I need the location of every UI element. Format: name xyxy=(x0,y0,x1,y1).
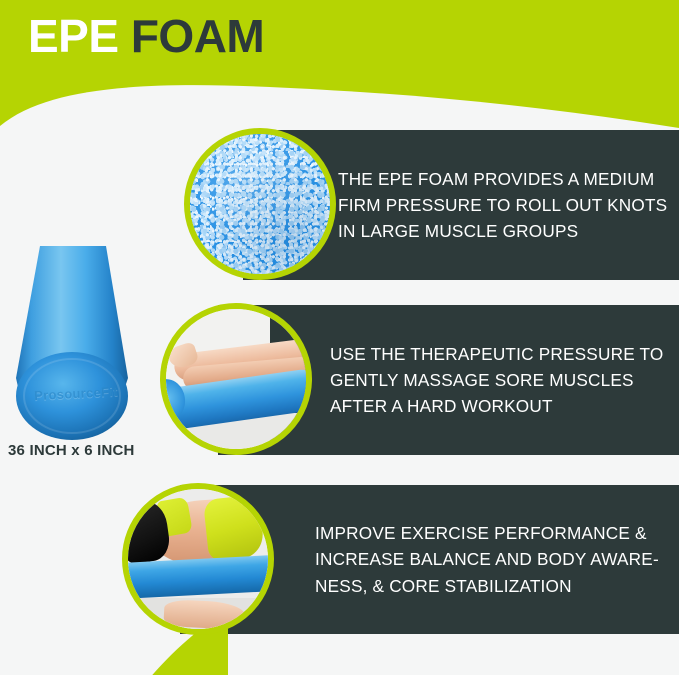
core-exercise-on-roller-image xyxy=(122,483,274,635)
legs-on-roller-image xyxy=(160,303,312,455)
product-image: ProsourceFit 36 INCH x 6 INCH xyxy=(0,246,160,461)
infographic-canvas: EPE FOAM THE EPE FOAM PROVIDES A MEDIUM … xyxy=(0,0,679,675)
foam-roller-product: ProsourceFit xyxy=(6,246,138,442)
foam-texture-graphic xyxy=(190,134,330,274)
core-photo-graphic xyxy=(128,489,268,629)
page-title: EPE FOAM xyxy=(28,13,264,59)
foam-roller-body-shape xyxy=(6,246,138,442)
title-epe: EPE xyxy=(28,10,119,62)
feature-text-3: IMPROVE EXERCISE PERFORMANCE & INCREASE … xyxy=(315,520,659,598)
foam-roller-shape xyxy=(122,554,274,600)
legs-photo-graphic xyxy=(166,309,306,449)
title-foam: FOAM xyxy=(131,10,264,62)
header-banner: EPE FOAM xyxy=(0,0,679,128)
feature-text-2: USE THE THERAPEUTIC PRESSURE TO GENTLY M… xyxy=(330,341,663,419)
foam-beads-pattern xyxy=(190,134,330,274)
yellow-top-shape xyxy=(203,495,265,562)
feature-text-1: THE EPE FOAM PROVIDES A MEDIUM FIRM PRES… xyxy=(338,166,667,244)
foam-texture-closeup-image xyxy=(184,128,336,280)
